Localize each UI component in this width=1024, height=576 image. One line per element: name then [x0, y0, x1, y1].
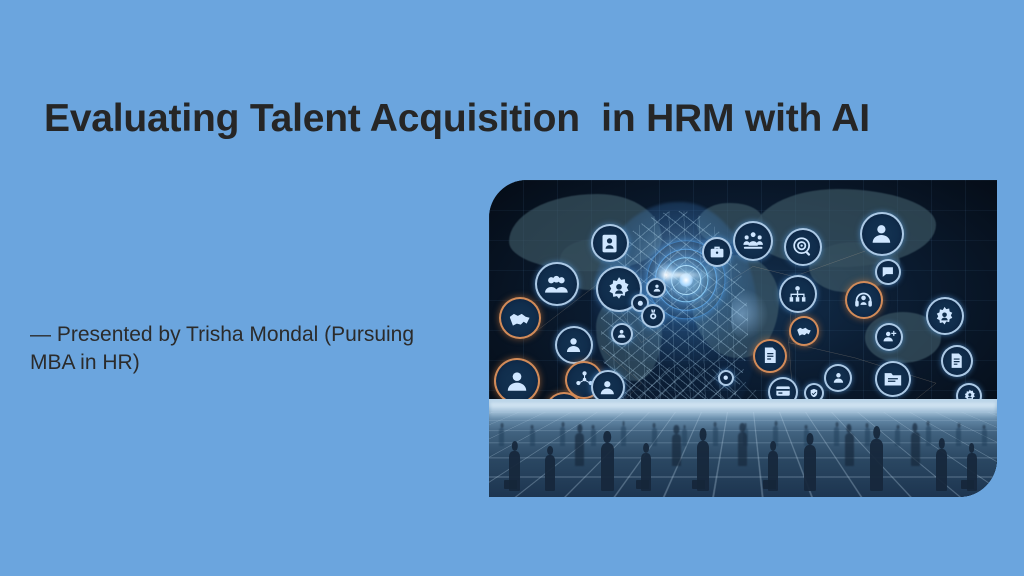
page-title: Evaluating Talent Acquisition in HRM wit…: [44, 96, 924, 142]
crowd-person-silhouette: [865, 428, 870, 446]
crowd-person-silhouette: [911, 432, 920, 466]
small-person-icon: [611, 323, 633, 345]
headset-support-icon: [845, 281, 883, 319]
person-profile-icon: [824, 364, 852, 392]
crowd-person-silhouette: [982, 429, 987, 446]
person-plus-icon: [875, 323, 903, 351]
target-search-icon: [784, 228, 822, 266]
crowd-person-silhouette: [845, 433, 854, 466]
tiny-node-icon: [718, 370, 734, 386]
crowd-person-silhouette: [870, 439, 883, 491]
single-user-icon: [494, 358, 540, 404]
crowd-person-silhouette: [560, 427, 565, 446]
crowd-person-silhouette: [545, 455, 555, 491]
briefcase-icon: [504, 480, 517, 489]
crowd-person-silhouette: [804, 445, 816, 491]
gear-user-icon: [926, 297, 964, 335]
briefcase-icon: [636, 480, 649, 489]
crowd-person-silhouette: [499, 428, 504, 446]
crowd-person-silhouette: [713, 427, 718, 446]
person-profile-icon: [555, 326, 593, 364]
single-user-icon: [860, 212, 904, 256]
crowd-person-silhouette: [682, 429, 687, 446]
crowd-person-silhouette: [936, 449, 947, 491]
handshake-icon: [789, 316, 819, 346]
crowd-floor-layer: [489, 399, 997, 497]
crowd-person-silhouette: [530, 429, 535, 446]
crowd-person-silhouette: [738, 432, 747, 466]
presentation-slide: Evaluating Talent Acquisition in HRM wit…: [0, 0, 1024, 576]
briefcase-icon: [961, 480, 974, 489]
chat-bubble-icon: [875, 259, 901, 285]
briefcase-icon: [692, 480, 705, 489]
crowd-person-silhouette: [601, 443, 614, 491]
briefcase-icon: [763, 480, 776, 489]
crowd-person-silhouette: [926, 426, 931, 446]
crowd-person-silhouette: [834, 427, 839, 446]
title-image: [489, 180, 997, 497]
crowd-person-silhouette: [956, 428, 961, 446]
document-list-icon: [941, 345, 973, 377]
small-person-icon: [646, 278, 666, 298]
crowd-person-silhouette: [591, 429, 596, 446]
crowd-person-silhouette: [672, 434, 681, 466]
business-crowd: [489, 399, 997, 497]
crowd-person-silhouette: [621, 426, 626, 446]
document-list-icon: [753, 339, 787, 373]
medal-award-icon: [641, 304, 665, 328]
badge-user-icon: [591, 224, 629, 262]
ai-hr-illustration: [489, 180, 997, 497]
crowd-person-silhouette: [895, 429, 900, 446]
org-chart-icon: [779, 275, 817, 313]
team-meeting-icon: [733, 221, 773, 261]
crowd-person-silhouette: [652, 428, 657, 446]
briefcase-lock-icon: [702, 237, 732, 267]
folder-file-icon: [875, 361, 911, 397]
presenter-subtitle: — Presented by Trisha Mondal (Pursuing M…: [30, 321, 450, 377]
handshake-icon: [499, 297, 541, 339]
crowd-person-silhouette: [575, 433, 584, 466]
group-people-icon: [535, 262, 579, 306]
